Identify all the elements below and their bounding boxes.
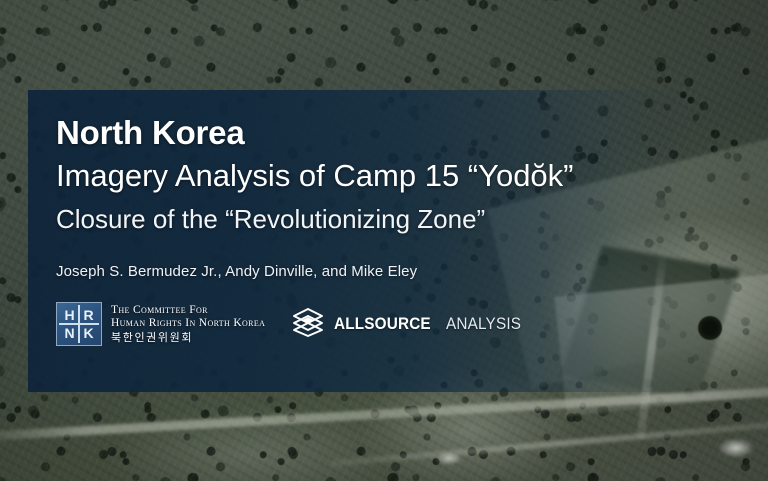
allsource-wordmark: ALLSOURCE ANALYSIS [334,314,529,334]
hrnk-wordmark: The Committee for Human Rights in North … [111,304,265,345]
page-title-main: Imagery Analysis of Camp 15 “Yodŏk” [56,159,768,194]
authors-line: Joseph S. Bermudez Jr., Andy Dinville, a… [56,263,768,280]
hrnk-mark-icon: H R N K [56,302,102,346]
logo-row: H R N K The Committee for Human Rights i… [56,302,768,346]
hrnk-korean-name: 북한인권위원회 [111,332,265,345]
hrnk-line-1: The Committee for [111,304,265,318]
hrnk-letter-h: H [60,306,79,324]
hrnk-divider-horizontal [59,323,99,325]
title-overlay-panel: North Korea Imagery Analysis of Camp 15 … [28,90,768,392]
allsource-word-light: ANALYSIS [446,314,521,334]
hrnk-logo[interactable]: H R N K The Committee for Human Rights i… [56,302,265,346]
page-title-country: North Korea [56,116,768,151]
page-subtitle: Closure of the “Revolutionizing Zone” [56,205,768,235]
cover-slide: North Korea Imagery Analysis of Camp 15 … [0,0,768,481]
allsource-word-bold: ALLSOURCE [334,314,431,334]
hrnk-letter-r: R [79,306,98,324]
layered-hexagon-icon [291,305,325,344]
hrnk-line-2: Human Rights in North Korea [111,317,265,331]
hrnk-letter-n: N [60,324,79,342]
hrnk-letter-k: K [79,324,98,342]
allsource-analysis-logo[interactable]: ALLSOURCE ANALYSIS [291,305,529,344]
